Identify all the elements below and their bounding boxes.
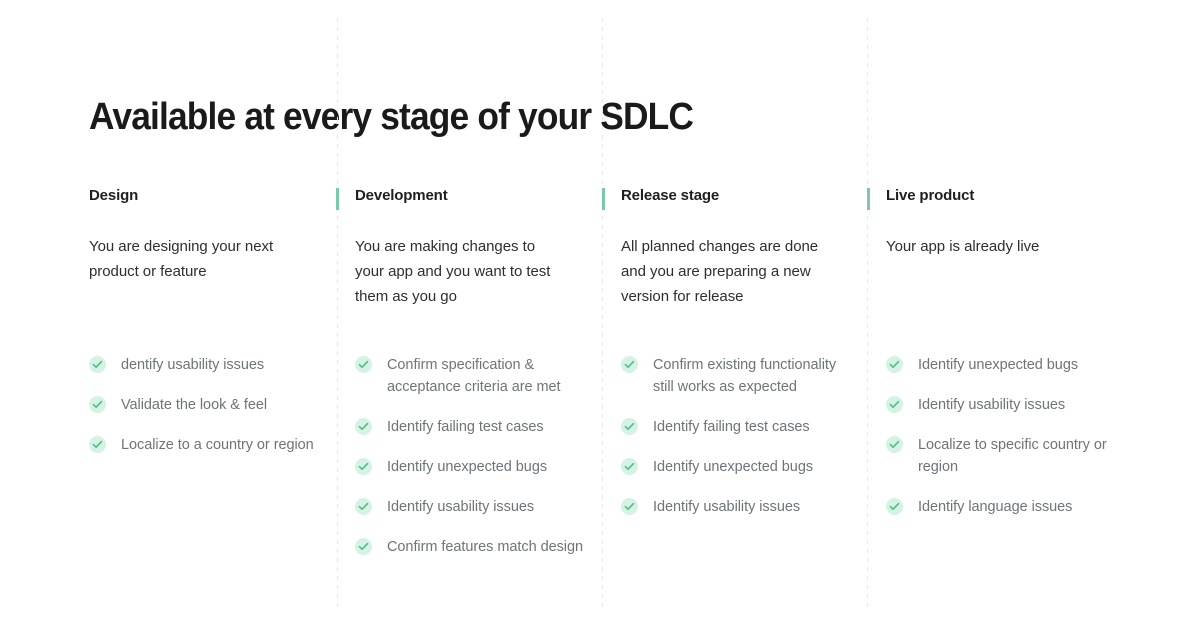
list-item-label: Identify usability issues bbox=[387, 499, 534, 515]
list-item: Identify usability issues bbox=[886, 394, 1118, 416]
column-description: You are making changes to your app and y… bbox=[355, 234, 560, 309]
list-item: dentify usability issues bbox=[89, 354, 321, 376]
check-circle-icon bbox=[355, 356, 372, 373]
list-item: Identify failing test cases bbox=[355, 416, 587, 438]
check-circle-icon bbox=[621, 458, 638, 475]
list-item: Identify usability issues bbox=[355, 496, 587, 518]
check-circle-icon bbox=[886, 436, 903, 453]
column-description: You are designing your next product or f… bbox=[89, 234, 294, 284]
list-item: Confirm existing functionality still wor… bbox=[621, 354, 853, 398]
check-circle-icon bbox=[886, 498, 903, 515]
list-item-label: dentify usability issues bbox=[121, 357, 264, 373]
list-item: Identify unexpected bugs bbox=[621, 456, 853, 478]
list-item-label: Localize to a country or region bbox=[121, 437, 314, 453]
list-item: Identify usability issues bbox=[621, 496, 853, 518]
check-circle-icon bbox=[89, 436, 106, 453]
list-item-label: Identify language issues bbox=[918, 499, 1072, 515]
list-item-label: Identify failing test cases bbox=[653, 419, 810, 435]
column-checklist: Confirm specification & acceptance crite… bbox=[355, 354, 587, 558]
list-item: Localize to a country or region bbox=[89, 434, 321, 456]
list-item-label: Identify usability issues bbox=[653, 499, 800, 515]
list-item-label: Confirm existing functionality still wor… bbox=[653, 357, 836, 395]
column-accent-bar bbox=[602, 188, 605, 210]
list-item-label: Validate the look & feel bbox=[121, 397, 267, 413]
list-item-label: Identify unexpected bugs bbox=[918, 357, 1078, 373]
column-checklist: Identify unexpected bugs Identify usabil… bbox=[886, 354, 1118, 518]
column-accent-bar bbox=[336, 188, 339, 210]
list-item: Confirm specification & acceptance crite… bbox=[355, 354, 587, 398]
column-checklist: dentify usability issues Validate the lo… bbox=[89, 354, 321, 456]
check-circle-icon bbox=[621, 418, 638, 435]
column-checklist: Confirm existing functionality still wor… bbox=[621, 354, 853, 518]
check-circle-icon bbox=[89, 396, 106, 413]
check-circle-icon bbox=[355, 458, 372, 475]
column-heading: Design bbox=[89, 186, 319, 206]
list-item: Validate the look & feel bbox=[89, 394, 321, 416]
stage-column-design: Design You are designing your next produ… bbox=[89, 186, 319, 299]
check-circle-icon bbox=[886, 356, 903, 373]
list-item: Confirm features match design bbox=[355, 536, 587, 558]
column-description: All planned changes are done and you are… bbox=[621, 234, 826, 309]
list-item: Identify failing test cases bbox=[621, 416, 853, 438]
stage-column-release-stage: Release stage All planned changes are do… bbox=[621, 186, 851, 324]
list-item-label: Confirm specification & acceptance crite… bbox=[387, 357, 561, 395]
list-item-label: Identify unexpected bugs bbox=[653, 459, 813, 475]
list-item: Localize to specific country or region bbox=[886, 434, 1118, 478]
check-circle-icon bbox=[89, 356, 106, 373]
list-item: Identify unexpected bugs bbox=[886, 354, 1118, 376]
check-circle-icon bbox=[621, 498, 638, 515]
list-item: Identify unexpected bugs bbox=[355, 456, 587, 478]
check-circle-icon bbox=[355, 418, 372, 435]
column-accent-bar bbox=[867, 188, 870, 210]
check-circle-icon bbox=[886, 396, 903, 413]
column-description: Your app is already live bbox=[886, 234, 1091, 259]
check-circle-icon bbox=[621, 356, 638, 373]
list-item-label: Confirm features match design bbox=[387, 539, 583, 555]
column-heading: Development bbox=[355, 186, 585, 206]
list-item-label: Identify failing test cases bbox=[387, 419, 544, 435]
check-circle-icon bbox=[355, 498, 372, 515]
stage-column-live-product: Live product Your app is already live Id… bbox=[886, 186, 1116, 274]
check-circle-icon bbox=[355, 538, 372, 555]
list-item-label: Identify unexpected bugs bbox=[387, 459, 547, 475]
stage-column-development: Development You are making changes to yo… bbox=[355, 186, 585, 324]
list-item: Identify language issues bbox=[886, 496, 1118, 518]
column-heading: Live product bbox=[886, 186, 1116, 206]
list-item-label: Localize to specific country or region bbox=[918, 437, 1107, 475]
stage-columns: Design You are designing your next produ… bbox=[0, 0, 1200, 630]
column-heading: Release stage bbox=[621, 186, 851, 206]
list-item-label: Identify usability issues bbox=[918, 397, 1065, 413]
